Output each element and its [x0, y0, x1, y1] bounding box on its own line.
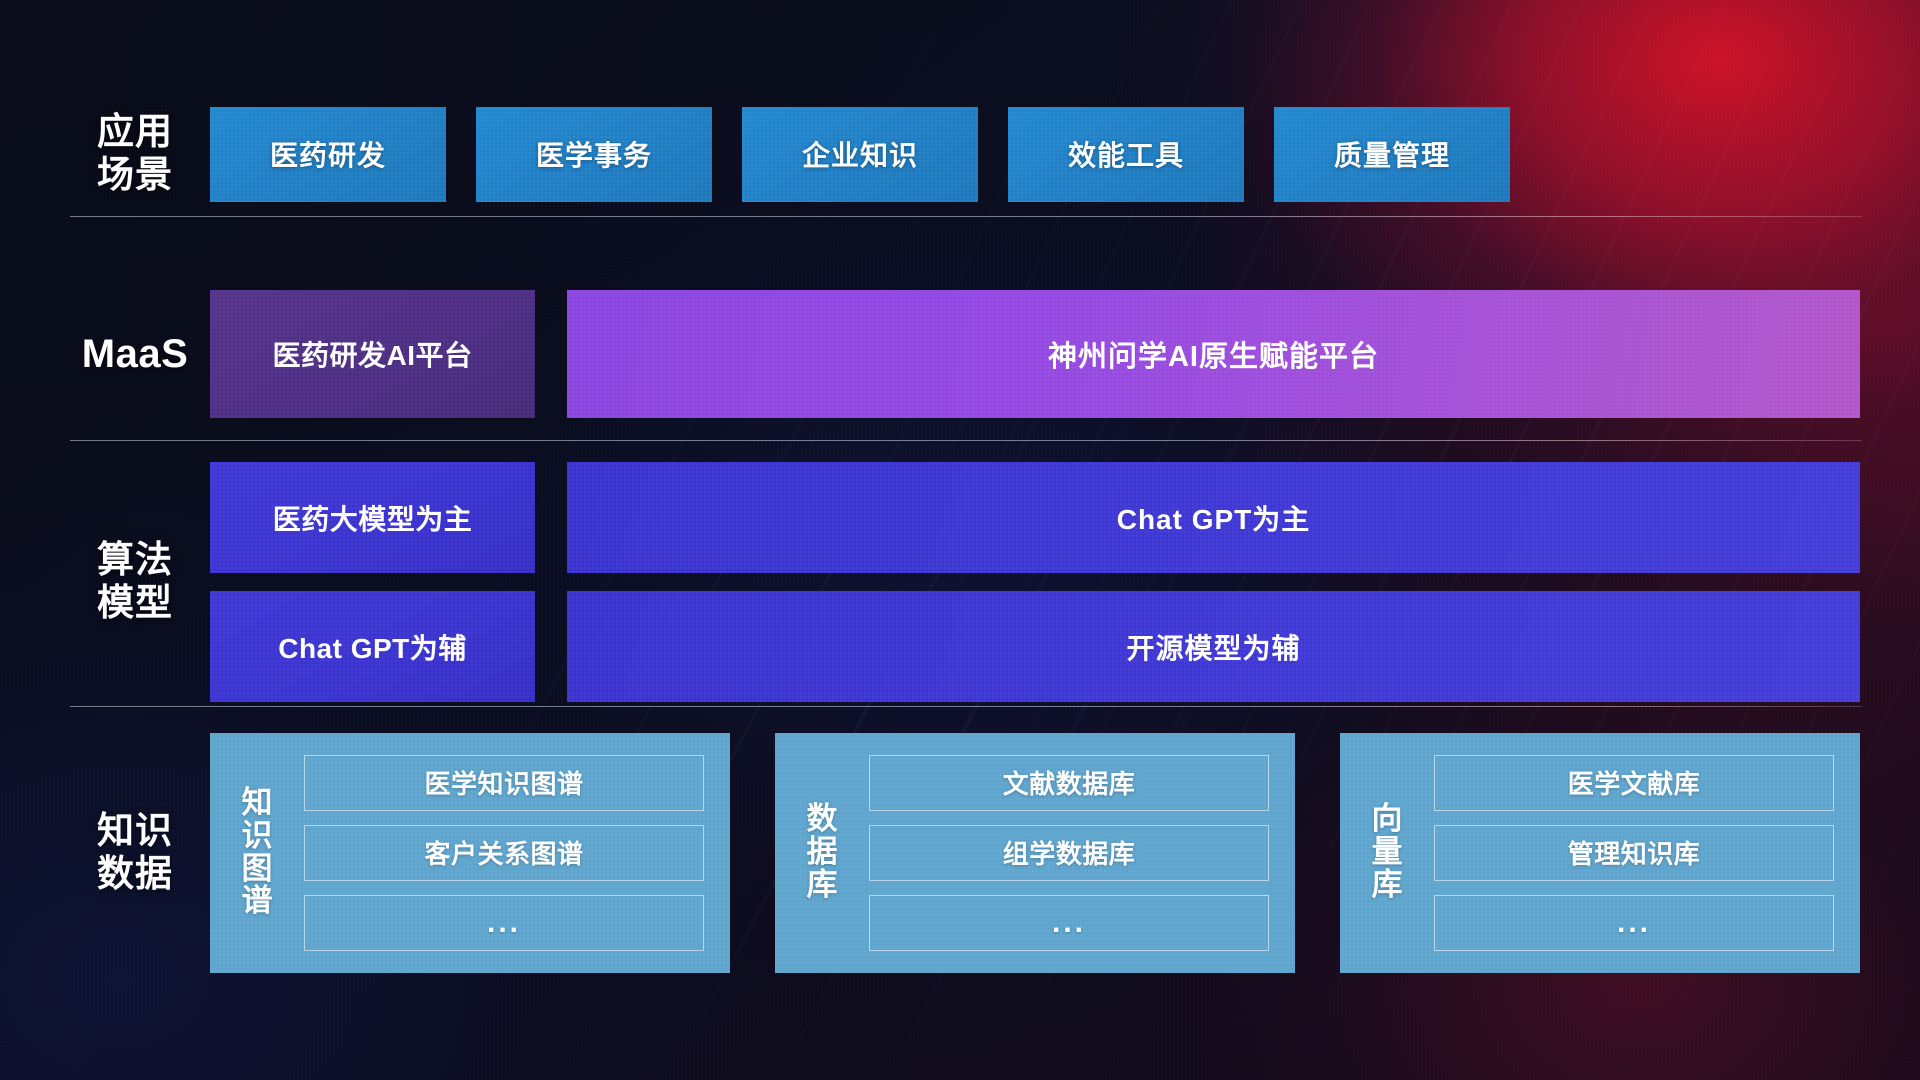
knowledge-items-knowledge-graph: 医学知识图谱 客户关系图谱 ... — [286, 747, 716, 959]
knowledge-item-more[interactable]: ... — [304, 895, 704, 951]
knowledge-group-database: 数 据 库 文献数据库 组学数据库 ... — [775, 733, 1295, 973]
label-char: 向 — [1372, 803, 1403, 836]
app-card-enterprise-knowledge[interactable]: 企业知识 — [742, 107, 978, 202]
divider-1 — [70, 216, 1862, 217]
row-label-knowledge-data: 知识 数据 — [60, 810, 210, 895]
row-label-line-2: 模型 — [60, 582, 210, 625]
label-char: 图 — [242, 853, 273, 886]
maas-card-drug-rnd-ai-platform[interactable]: 医药研发AI平台 — [210, 290, 535, 418]
label-char: 据 — [807, 836, 838, 869]
knowledge-item-literature-database[interactable]: 文献数据库 — [869, 755, 1269, 811]
label-char: 量 — [1372, 836, 1403, 869]
label-char: 知 — [242, 787, 273, 820]
knowledge-group-label-knowledge-graph: 知 识 图 谱 — [228, 747, 286, 959]
row-knowledge-data: 知识 数据 知 识 图 谱 医学知识图谱 客户关系图谱 ... 数 — [60, 730, 1860, 975]
algorithm-model-lines: 医药大模型为主 Chat GPT为主 Chat GPT为辅 开源模型为辅 — [210, 462, 1860, 702]
row-label-application-scenarios: 应用 场景 — [60, 111, 210, 196]
app-card-quality-management[interactable]: 质量管理 — [1274, 107, 1510, 202]
knowledge-item-management-knowledge-store[interactable]: 管理知识库 — [1434, 825, 1834, 881]
app-card-drug-rnd[interactable]: 医药研发 — [210, 107, 446, 202]
knowledge-items-database: 文献数据库 组学数据库 ... — [851, 747, 1281, 959]
app-card-efficiency-tools[interactable]: 效能工具 — [1008, 107, 1244, 202]
algo-card-pharma-llm-primary[interactable]: 医药大模型为主 — [210, 462, 535, 573]
knowledge-item-customer-relation-graph[interactable]: 客户关系图谱 — [304, 825, 704, 881]
row-maas: MaaS 医药研发AI平台 神州问学AI原生赋能平台 — [60, 290, 1860, 418]
row-label-line-1: 算法 — [60, 539, 210, 582]
label-char: 谱 — [242, 885, 273, 918]
row-label-line-2: 数据 — [60, 853, 210, 896]
app-card-medical-affairs[interactable]: 医学事务 — [476, 107, 712, 202]
maas-platforms: 医药研发AI平台 神州问学AI原生赋能平台 — [210, 290, 1860, 418]
knowledge-group-vector-store: 向 量 库 医学文献库 管理知识库 ... — [1340, 733, 1860, 973]
knowledge-group-label-vector-store: 向 量 库 — [1358, 747, 1416, 959]
row-label-line-2: 场景 — [60, 154, 210, 197]
knowledge-item-medical-knowledge-graph[interactable]: 医学知识图谱 — [304, 755, 704, 811]
knowledge-item-omics-database[interactable]: 组学数据库 — [869, 825, 1269, 881]
knowledge-groups: 知 识 图 谱 医学知识图谱 客户关系图谱 ... 数 据 库 — [210, 733, 1860, 973]
row-application-scenarios: 应用 场景 医药研发 医学事务 企业知识 效能工具 质量管理 — [60, 95, 1860, 213]
row-label-maas: MaaS — [60, 331, 210, 377]
algo-card-chatgpt-secondary[interactable]: Chat GPT为辅 — [210, 591, 535, 702]
row-label-line-1: 知识 — [60, 810, 210, 853]
algo-card-chatgpt-primary[interactable]: Chat GPT为主 — [567, 462, 1860, 573]
knowledge-group-knowledge-graph: 知 识 图 谱 医学知识图谱 客户关系图谱 ... — [210, 733, 730, 973]
divider-3 — [70, 706, 1862, 707]
knowledge-item-medical-literature-store[interactable]: 医学文献库 — [1434, 755, 1834, 811]
maas-card-shenzhou-wenxue-platform[interactable]: 神州问学AI原生赋能平台 — [567, 290, 1860, 418]
row-algorithm-models: 算法 模型 医药大模型为主 Chat GPT为主 Chat GPT为辅 开源模型… — [60, 462, 1860, 702]
label-char: 数 — [807, 803, 838, 836]
knowledge-group-label-database: 数 据 库 — [793, 747, 851, 959]
knowledge-item-more[interactable]: ... — [1434, 895, 1834, 951]
row-label-line-1: 应用 — [60, 111, 210, 154]
algorithm-line-primary: 医药大模型为主 Chat GPT为主 — [210, 462, 1860, 573]
knowledge-items-vector-store: 医学文献库 管理知识库 ... — [1416, 747, 1846, 959]
knowledge-item-more[interactable]: ... — [869, 895, 1269, 951]
algorithm-line-secondary: Chat GPT为辅 开源模型为辅 — [210, 591, 1860, 702]
application-scenario-cards: 医药研发 医学事务 企业知识 效能工具 质量管理 — [210, 107, 1860, 202]
row-label-algorithm-models: 算法 模型 — [60, 539, 210, 624]
label-char: 库 — [807, 869, 838, 902]
label-char: 库 — [1372, 869, 1403, 902]
label-char: 识 — [242, 820, 273, 853]
algo-card-opensource-secondary[interactable]: 开源模型为辅 — [567, 591, 1860, 702]
architecture-diagram: 应用 场景 医药研发 医学事务 企业知识 效能工具 质量管理 MaaS 医药研发… — [0, 0, 1920, 1080]
divider-2 — [70, 440, 1862, 441]
